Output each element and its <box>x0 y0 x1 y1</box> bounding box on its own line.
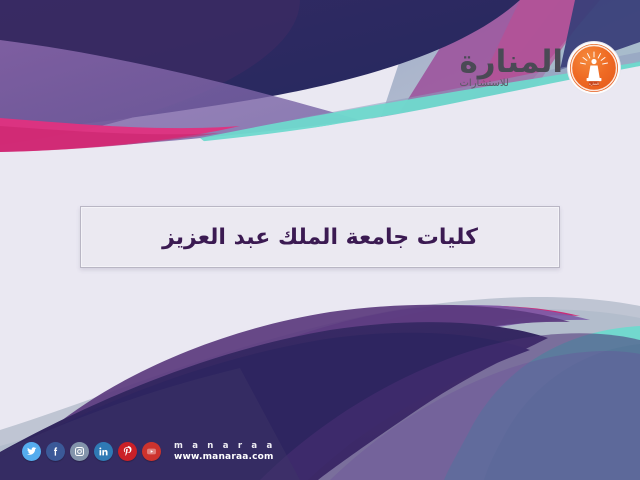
instagram-icon[interactable] <box>70 442 89 461</box>
logo-name: المنارة <box>460 47 564 78</box>
company-logo: المنارة المنارة للاستشارات <box>460 44 619 92</box>
svg-text:المنارة: المنارة <box>589 82 599 86</box>
youtube-icon[interactable] <box>142 442 161 461</box>
lighthouse-icon: المنارة <box>570 44 618 92</box>
title-card: كليات جامعة الملك عبد العزيز <box>80 206 560 268</box>
brand-name: m a n a r a a <box>174 442 275 452</box>
brand-text: m a n a r a a www.manaraa.com <box>174 442 275 462</box>
footer-bar: m a n a r a a www.manaraa.com <box>22 442 275 462</box>
slide-canvas: المنارة المنارة للاستشارات كليات جامعة ا… <box>0 0 640 480</box>
brand-website[interactable]: www.manaraa.com <box>174 452 275 462</box>
logo-tagline: للاستشارات <box>460 79 509 89</box>
facebook-icon[interactable] <box>46 442 65 461</box>
linkedin-icon[interactable] <box>94 442 113 461</box>
twitter-icon[interactable] <box>22 442 41 461</box>
pinterest-icon[interactable] <box>118 442 137 461</box>
page-title: كليات جامعة الملك عبد العزيز <box>162 225 478 250</box>
